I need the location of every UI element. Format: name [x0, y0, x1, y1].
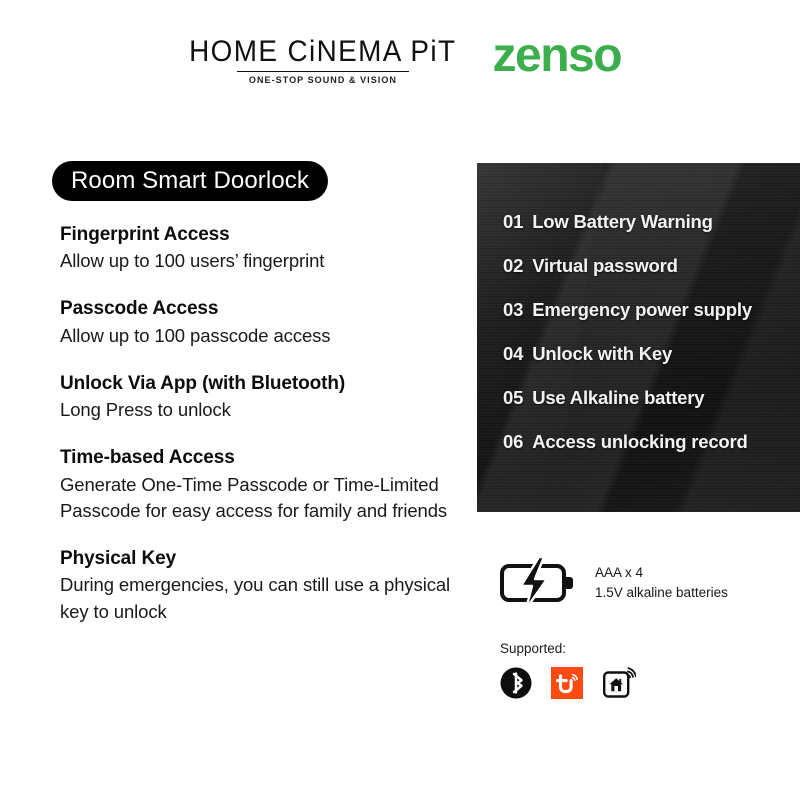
feature-item: Unlock Via App (with Bluetooth) Long Pre…: [60, 371, 460, 423]
feature-description: Generate One-Time Passcode or Time-Limit…: [60, 472, 460, 525]
feature-title: Fingerprint Access: [60, 222, 460, 248]
feature-item: Time-based Access Generate One-Time Pass…: [60, 445, 460, 524]
feature-item: Physical Key During emergencies, you can…: [60, 546, 460, 625]
header-logos: HOME CiNEMA PiT ONE-STOP SOUND & VISION …: [0, 0, 800, 118]
panel-list-item: 06 Access unlocking record: [503, 431, 800, 453]
feature-title: Passcode Access: [60, 296, 460, 322]
battery-line-2: 1.5V alkaline batteries: [595, 584, 728, 602]
feature-description: Long Press to unlock: [60, 397, 460, 423]
battery-bolt-icon: [499, 557, 579, 609]
panel-list-item: 01 Low Battery Warning: [503, 211, 800, 233]
tuya-icon: [551, 667, 583, 699]
feature-list: Fingerprint Access Allow up to 100 users…: [60, 222, 460, 625]
brand-primary-name: HOME CiNEMA PiT: [189, 37, 456, 67]
panel-item-number: 05: [503, 387, 523, 409]
panel-item-label: Access unlocking record: [532, 431, 747, 453]
bluetooth-icon: [500, 667, 532, 699]
page-title-badge: Room Smart Doorlock: [52, 161, 328, 201]
battery-line-1: AAA x 4: [595, 564, 728, 582]
battery-spec: AAA x 4 1.5V alkaline batteries: [499, 557, 728, 609]
panel-item-number: 06: [503, 431, 523, 453]
brand-primary-tagline: ONE-STOP SOUND & VISION: [249, 75, 397, 86]
feature-item: Passcode Access Allow up to 100 passcode…: [60, 296, 460, 348]
panel-item-number: 04: [503, 343, 523, 365]
feature-description: Allow up to 100 passcode access: [60, 323, 460, 349]
features-dark-panel: 01 Low Battery Warning 02 Virtual passwo…: [477, 163, 800, 512]
panel-item-number: 02: [503, 255, 523, 277]
panel-feature-list: 01 Low Battery Warning 02 Virtual passwo…: [477, 163, 800, 453]
smart-home-icon: [602, 666, 636, 700]
panel-item-number: 01: [503, 211, 523, 233]
feature-title: Time-based Access: [60, 445, 460, 471]
panel-item-label: Use Alkaline battery: [532, 387, 704, 409]
brand-zenso: zenso: [493, 32, 622, 86]
panel-item-label: Unlock with Key: [532, 343, 672, 365]
brand-home-cinema-pit: HOME CiNEMA PiT ONE-STOP SOUND & VISION: [179, 33, 467, 86]
panel-item-label: Low Battery Warning: [532, 211, 713, 233]
panel-list-item: 02 Virtual password: [503, 255, 800, 277]
panel-list-item: 05 Use Alkaline battery: [503, 387, 800, 409]
feature-title: Unlock Via App (with Bluetooth): [60, 371, 460, 397]
panel-item-label: Virtual password: [532, 255, 678, 277]
feature-title: Physical Key: [60, 546, 460, 572]
supported-label: Supported:: [500, 641, 636, 656]
battery-text: AAA x 4 1.5V alkaline batteries: [595, 564, 728, 602]
supported-icon-row: [500, 666, 636, 700]
feature-item: Fingerprint Access Allow up to 100 users…: [60, 222, 460, 274]
feature-description: During emergencies, you can still use a …: [60, 572, 460, 625]
panel-list-item: 03 Emergency power supply: [503, 299, 800, 321]
supported-section: Supported:: [500, 641, 636, 700]
panel-list-item: 04 Unlock with Key: [503, 343, 800, 365]
panel-item-number: 03: [503, 299, 523, 321]
feature-description: Allow up to 100 users’ fingerprint: [60, 248, 460, 274]
brand-divider: [237, 71, 409, 72]
panel-item-label: Emergency power supply: [532, 299, 752, 321]
page-title: Room Smart Doorlock: [71, 167, 309, 195]
